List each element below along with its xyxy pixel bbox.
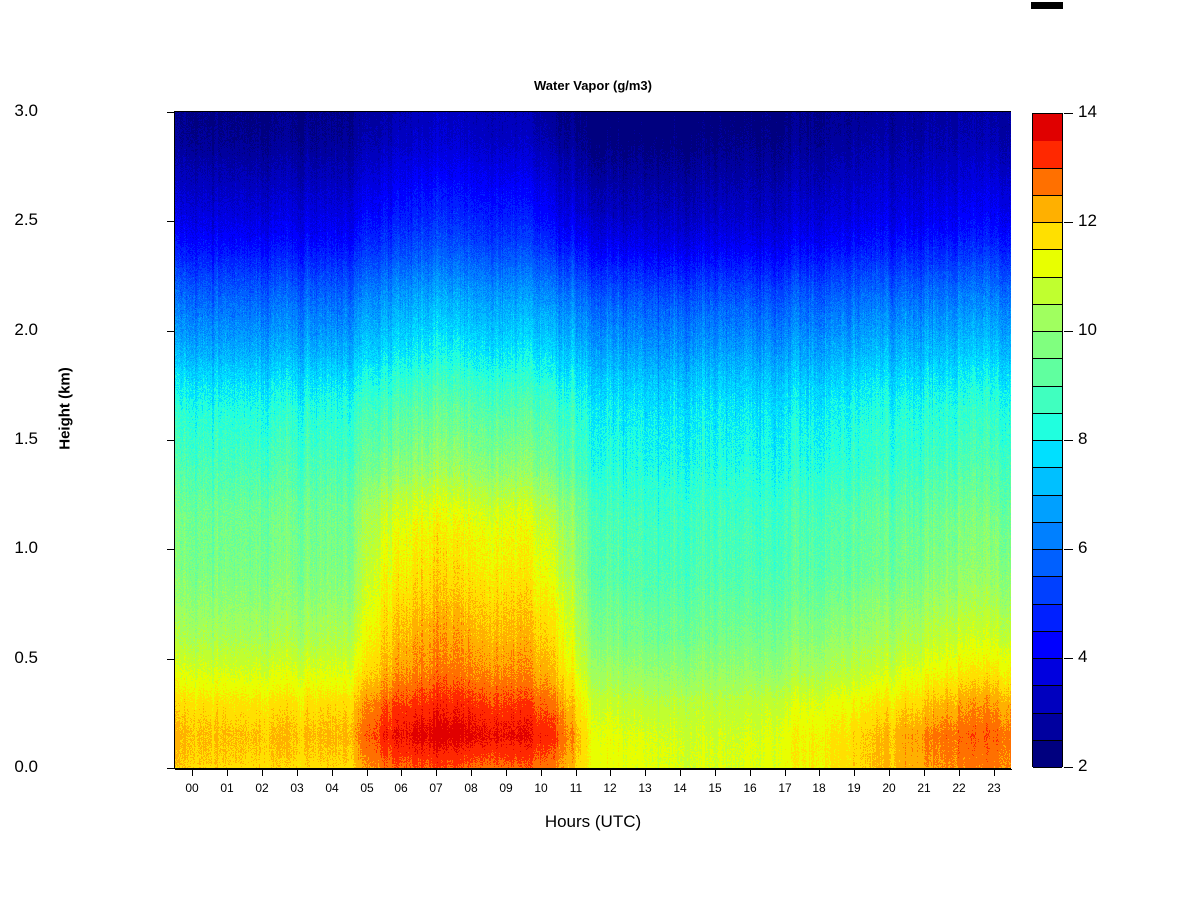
x-tick-mark: [819, 769, 820, 776]
x-tick-mark: [541, 769, 542, 776]
colorbar-tick-mark: [1064, 113, 1073, 114]
colorbar-band: [1033, 114, 1062, 141]
colorbar-tick-mark: [1064, 549, 1073, 550]
x-tick-label: 07: [416, 781, 456, 795]
colorbar-tick-mark: [1064, 658, 1073, 659]
colorbar-tick-label: 14: [1078, 102, 1097, 122]
colorbar-tick-label: 12: [1078, 211, 1097, 231]
x-tick-label: 06: [381, 781, 421, 795]
x-tick-label: 13: [625, 781, 665, 795]
figure-canvas: Water Vapor (g/m3) 0.00.51.01.52.02.53.0…: [0, 0, 1200, 900]
x-tick-mark: [471, 769, 472, 776]
colorbar-tick-label: 4: [1078, 647, 1087, 667]
colorbar-band: [1033, 387, 1062, 414]
x-tick-mark: [297, 769, 298, 776]
colorbar-tick-label: 2: [1078, 756, 1087, 776]
y-tick-label: 3.0: [14, 101, 38, 121]
y-tick-label: 1.0: [14, 538, 38, 558]
colorbar-band: [1033, 496, 1062, 523]
x-tick-mark: [645, 769, 646, 776]
x-tick-mark: [332, 769, 333, 776]
y-tick-mark: [167, 768, 175, 769]
colorbar-band: [1033, 414, 1062, 441]
x-tick-label: 08: [451, 781, 491, 795]
x-tick-mark: [506, 769, 507, 776]
x-tick-label: 19: [834, 781, 874, 795]
colorbar-tick-label: 6: [1078, 538, 1087, 558]
x-tick-label: 12: [590, 781, 630, 795]
colorbar-band: [1033, 741, 1062, 768]
y-axis-title: Height (km): [57, 329, 74, 489]
colorbar-band: [1033, 523, 1062, 550]
x-tick-label: 02: [242, 781, 282, 795]
y-tick-mark: [167, 331, 175, 332]
x-tick-label: 22: [939, 781, 979, 795]
colorbar-band: [1033, 632, 1062, 659]
x-tick-mark: [680, 769, 681, 776]
x-tick-mark: [994, 769, 995, 776]
y-tick-label: 2.0: [14, 320, 38, 340]
x-tick-mark: [854, 769, 855, 776]
x-tick-mark: [576, 769, 577, 776]
x-tick-mark: [367, 769, 368, 776]
colorbar-band: [1033, 550, 1062, 577]
colorbar-band: [1033, 305, 1062, 332]
colorbar-tick-mark: [1064, 222, 1073, 223]
y-tick-mark: [167, 659, 175, 660]
colorbar-band: [1033, 659, 1062, 686]
colorbar-band: [1033, 141, 1062, 169]
x-tick-mark: [262, 769, 263, 776]
colorbar-band: [1033, 278, 1062, 305]
colorbar-band: [1033, 169, 1062, 196]
y-tick-label: 2.5: [14, 210, 38, 230]
colorbar-tick-mark: [1064, 440, 1073, 441]
y-tick-mark: [167, 440, 175, 441]
page-title: Water Vapor (g/m3): [175, 78, 1011, 93]
colorbar-tick-mark: [1064, 331, 1073, 332]
colorbar-band: [1033, 196, 1062, 223]
x-tick-label: 16: [730, 781, 770, 795]
x-tick-mark: [401, 769, 402, 776]
x-tick-mark: [924, 769, 925, 776]
x-tick-label: 21: [904, 781, 944, 795]
y-tick-mark: [167, 549, 175, 550]
x-tick-mark: [750, 769, 751, 776]
colorbar-band: [1033, 714, 1062, 741]
x-tick-label: 23: [974, 781, 1014, 795]
colorbar-band: [1033, 605, 1062, 632]
x-tick-mark: [959, 769, 960, 776]
colorbar-band: [1033, 468, 1062, 496]
x-axis-line: [175, 769, 1012, 770]
y-tick-mark: [167, 112, 175, 113]
x-tick-mark: [436, 769, 437, 776]
x-tick-label: 20: [869, 781, 909, 795]
y-tick-label: 0.5: [14, 648, 38, 668]
x-tick-label: 03: [277, 781, 317, 795]
x-axis-title: Hours (UTC): [175, 812, 1011, 832]
colorbar-tick-label: 8: [1078, 429, 1087, 449]
colorbar-band: [1033, 441, 1062, 468]
colorbar-tick-mark: [1064, 767, 1073, 768]
top-edge-mark: [1031, 2, 1063, 9]
colorbar-band: [1033, 686, 1062, 714]
x-tick-label: 14: [660, 781, 700, 795]
heatmap-canvas: [175, 112, 1011, 768]
x-tick-mark: [192, 769, 193, 776]
colorbar: [1032, 113, 1063, 767]
x-tick-mark: [227, 769, 228, 776]
x-tick-mark: [785, 769, 786, 776]
heatmap-plot-area: [175, 112, 1011, 768]
y-tick-label: 0.0: [14, 757, 38, 777]
x-tick-label: 18: [799, 781, 839, 795]
x-tick-mark: [889, 769, 890, 776]
x-tick-label: 10: [521, 781, 561, 795]
y-tick-label: 1.5: [14, 429, 38, 449]
y-tick-mark: [167, 221, 175, 222]
colorbar-band: [1033, 250, 1062, 278]
colorbar-band: [1033, 359, 1062, 387]
x-tick-label: 09: [486, 781, 526, 795]
colorbar-tick-label: 10: [1078, 320, 1097, 340]
colorbar-band: [1033, 332, 1062, 359]
x-tick-label: 04: [312, 781, 352, 795]
x-tick-label: 00: [172, 781, 212, 795]
colorbar-band: [1033, 577, 1062, 605]
x-tick-mark: [610, 769, 611, 776]
x-tick-mark: [715, 769, 716, 776]
x-tick-label: 15: [695, 781, 735, 795]
plot-frame-top: [175, 111, 1011, 112]
x-tick-label: 01: [207, 781, 247, 795]
colorbar-band: [1033, 223, 1062, 250]
